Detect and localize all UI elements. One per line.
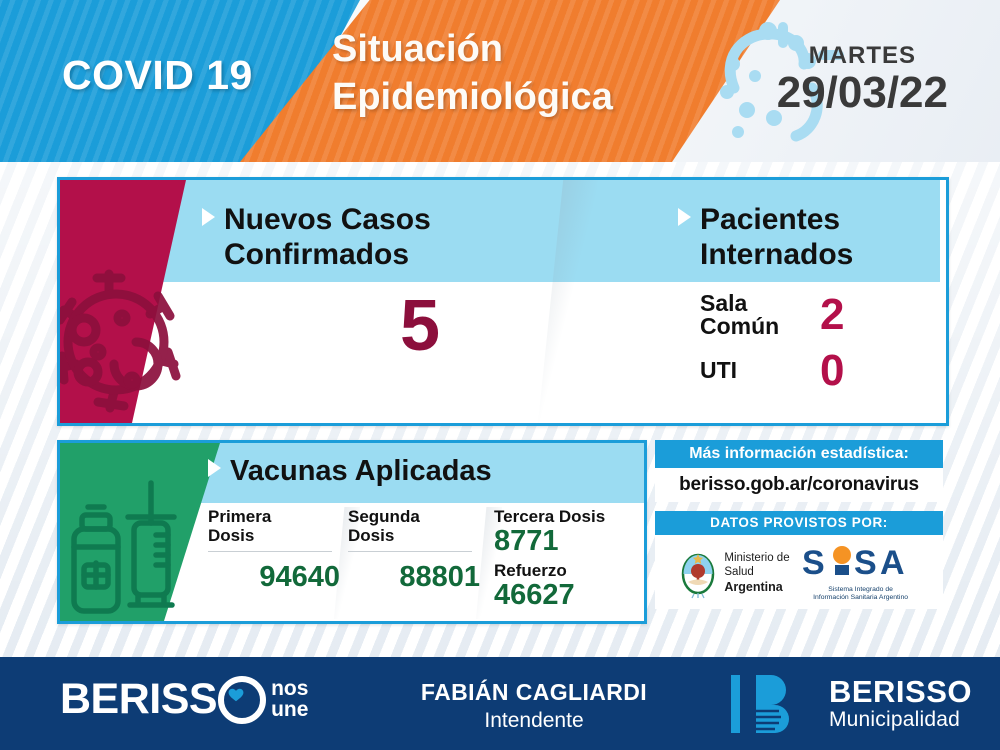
nos-une-tagline: nos une <box>271 679 308 720</box>
dose-label-line2: Dosis <box>208 526 344 545</box>
hospitalized-row-uti: UTI 0 <box>700 349 930 393</box>
covid-label: COVID 19 <box>62 52 253 99</box>
svg-text:S: S <box>854 544 877 580</box>
date-block: MARTES 29/03/22 <box>777 44 948 116</box>
new-cases-title-line1: Nuevos Casos <box>224 203 431 236</box>
dose-rule <box>208 551 332 552</box>
hospitalized-row-value: 0 <box>820 349 844 393</box>
ministry-line3: Argentina <box>724 580 782 594</box>
mayor-name: FABIÁN CAGLIARDI <box>404 679 664 706</box>
sisa-subtitle-line1: Sistema Integrado de <box>802 586 920 594</box>
info-panel: Más información estadística: berisso.gob… <box>655 440 943 618</box>
dose-value: 94640 <box>208 562 344 593</box>
page-title-line2: Epidemiológica <box>332 74 613 122</box>
header: COVID 19 Situación Epidemiológica MARTES… <box>0 0 1000 162</box>
hospitalized-title-line1: Pacientes <box>700 203 840 236</box>
hospitalized-row-sala-comun: Sala Común 2 <box>700 292 930 339</box>
tercera-dosis-value: 8771 <box>494 526 644 557</box>
dose-column-tercera-refuerzo: Tercera Dosis 8771 Refuerzo 46627 <box>494 507 644 619</box>
page-title-line1: Situación <box>332 26 613 74</box>
sisa-wordmark-icon: S S A <box>802 544 920 580</box>
hospitalized-row-label: Sala Común <box>700 292 820 339</box>
dose-label-line1: Primera <box>208 507 344 526</box>
sisa-subtitle: Sistema Integrado de Información Sanitar… <box>802 586 920 603</box>
dose-column-primera: Primera Dosis 94640 <box>208 507 344 619</box>
tercera-dosis-label: Tercera Dosis <box>494 507 644 526</box>
hospitalized-title: Pacientes Internados <box>678 202 853 273</box>
dose-columns: Primera Dosis 94640 Segunda Dosis 88801 … <box>208 507 640 619</box>
ministry-text: Ministerio de Salud Argentina <box>724 551 789 596</box>
dose-rule <box>348 551 472 552</box>
website-url[interactable]: berisso.gob.ar/coronavirus <box>655 468 943 502</box>
tagline-line2: une <box>271 700 308 721</box>
more-info-label: Más información estadística: <box>655 440 943 468</box>
source-logos: Ministerio de Salud Argentina S S A Sist… <box>655 535 943 609</box>
new-cases-title: Nuevos Casos Confirmados <box>202 202 431 273</box>
page-title: Situación Epidemiológica <box>332 26 613 121</box>
infographic-page: COVID 19 Situación Epidemiológica MARTES… <box>0 0 1000 750</box>
vaccines-title: Vacunas Aplicadas <box>208 455 492 488</box>
berisso-nos-une-logo: BERISS nos une <box>60 675 308 724</box>
ministry-line2: Salud <box>724 565 789 579</box>
argentina-coat-of-arms-icon <box>678 546 718 600</box>
hospitalized-row-value: 2 <box>820 293 844 337</box>
svg-text:A: A <box>880 544 905 580</box>
ministry-of-health-logo: Ministerio de Salud Argentina <box>678 546 789 600</box>
hospitalized-label-line2: Común <box>700 315 820 338</box>
refuerzo-label: Refuerzo <box>494 561 644 580</box>
date-dayofweek: MARTES <box>777 44 948 68</box>
berisso-b-mark-icon <box>729 673 817 735</box>
vaccines-card: Vacunas Aplicadas Primera Dosis 94640 Se… <box>57 440 647 624</box>
sisa-subtitle-line2: Información Sanitaria Argentino <box>802 594 920 602</box>
municipality-logo: BERISSO Municipalidad <box>729 673 972 735</box>
new-cases-title-line2: Confirmados <box>224 237 431 272</box>
ministry-line1: Ministerio de <box>724 551 789 565</box>
cases-card: Nuevos Casos Confirmados Pacientes Inter… <box>57 177 949 426</box>
municipality-text: BERISSO Municipalidad <box>829 676 972 731</box>
berisso-o-ring <box>218 676 266 724</box>
berisso-wordmark: BERISS <box>60 675 217 724</box>
svg-text:S: S <box>802 544 825 580</box>
vaccine-syringe-icon <box>68 477 200 617</box>
mayor-block: FABIÁN CAGLIARDI Intendente <box>404 679 664 733</box>
hospitalized-rows: Sala Común 2 UTI 0 <box>700 292 930 397</box>
hospitalized-title-line2: Internados <box>700 237 853 272</box>
dose-label: Primera Dosis <box>208 507 344 546</box>
triangle-bullet-icon <box>208 459 221 477</box>
triangle-bullet-icon <box>202 208 215 226</box>
dose-value: 88801 <box>348 562 484 593</box>
coronavirus-icon <box>57 268 214 426</box>
data-source-label: DATOS PROVISTOS POR: <box>655 511 943 535</box>
heart-icon <box>228 688 244 702</box>
date-value: 29/03/22 <box>777 70 948 116</box>
dose-label-line1: Segunda <box>348 507 484 526</box>
dose-label: Segunda Dosis <box>348 507 484 546</box>
municipality-line1: BERISSO <box>829 676 972 707</box>
refuerzo-value: 46627 <box>494 580 644 611</box>
tagline-line1: nos <box>271 679 308 700</box>
dose-label-line2: Dosis <box>348 526 484 545</box>
triangle-bullet-icon <box>678 208 691 226</box>
hospitalized-label-line1: Sala <box>700 292 820 315</box>
footer: BERISS nos une FABIÁN CAGLIARDI Intenden… <box>0 657 1000 750</box>
sisa-logo: S S A Sistema Integrado de Información S… <box>802 544 920 603</box>
hospitalized-row-label: UTI <box>700 359 820 382</box>
mayor-role: Intendente <box>404 709 664 733</box>
vaccines-title-text: Vacunas Aplicadas <box>230 455 492 487</box>
municipality-line2: Municipalidad <box>829 708 972 731</box>
dose-column-segunda: Segunda Dosis 88801 <box>348 507 484 619</box>
new-cases-value: 5 <box>310 290 530 362</box>
